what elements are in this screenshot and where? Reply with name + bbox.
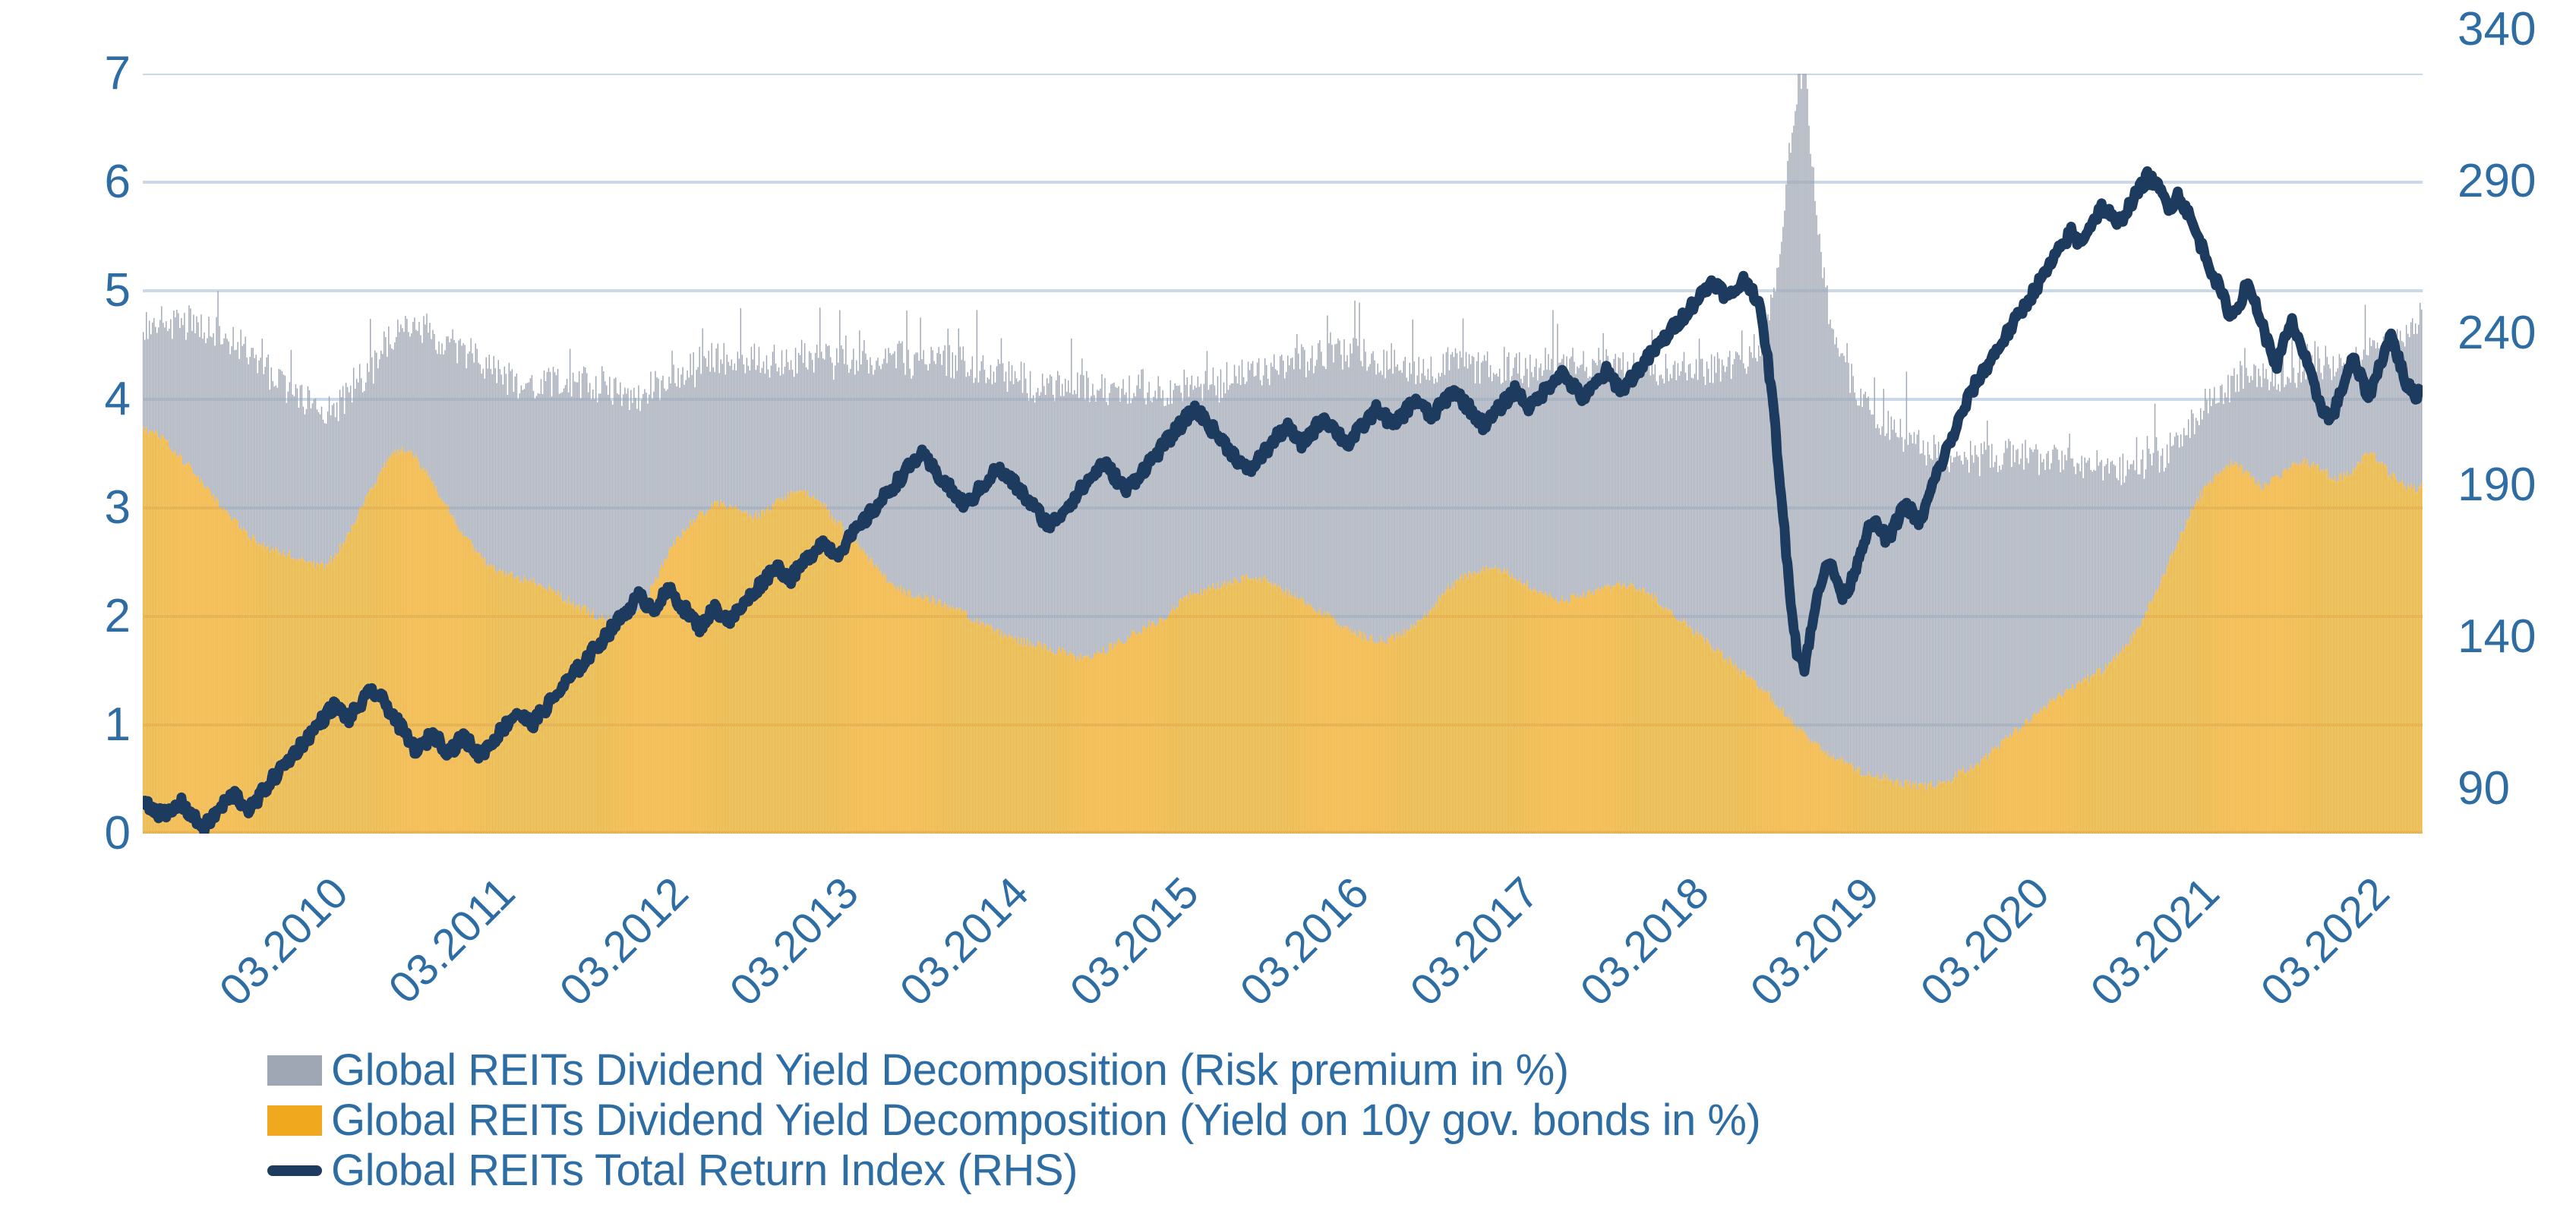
y-left-tick-1: 1 [39, 702, 131, 749]
y-right-tick-190: 190 [2458, 462, 2576, 509]
legend-label-risk-premium: Global REITs Dividend Yield Decompositio… [331, 1048, 1569, 1092]
x-tick-label-03-2013: 03.2013 [722, 870, 866, 1014]
y-left-tick-5: 5 [39, 267, 131, 314]
x-tick-label-03-2018: 03.2018 [1574, 870, 1717, 1014]
x-tick-label-03-2019: 03.2019 [1744, 870, 1887, 1014]
y-right-tick-140: 140 [2458, 613, 2576, 661]
y-left-tick-3: 3 [39, 484, 131, 531]
x-tick-label-03-2020: 03.2020 [1914, 870, 2057, 1014]
legend-swatch-bond-yield [267, 1105, 322, 1136]
x-tick-label-03-2021: 03.2021 [2084, 870, 2227, 1014]
legend-swatch-risk-premium [267, 1055, 322, 1086]
x-tick-label-03-2011: 03.2011 [381, 870, 522, 1011]
y-left-tick-7: 7 [39, 50, 131, 97]
y-left-tick-6: 6 [39, 159, 131, 206]
legend-item-total-return[interactable]: Global REITs Total Return Index (RHS) [267, 1146, 2090, 1195]
x-tick-label-03-2016: 03.2016 [1233, 870, 1377, 1014]
x-tick-label-03-2022: 03.2022 [2254, 870, 2398, 1014]
chart-figure: 7 6 5 4 3 2 1 0 340 290 240 190 140 90 0… [0, 0, 2576, 1217]
legend-label-bond-yield: Global REITs Dividend Yield Decompositio… [331, 1099, 1760, 1143]
x-tick-label-03-2017: 03.2017 [1403, 870, 1547, 1014]
legend-label-total-return: Global REITs Total Return Index (RHS) [331, 1149, 1078, 1193]
y-right-tick-340: 340 [2458, 6, 2576, 53]
x-tick-label-03-2014: 03.2014 [893, 870, 1037, 1014]
legend-item-bond-yield[interactable]: Global REITs Dividend Yield Decompositio… [267, 1096, 2090, 1145]
x-tick-label-03-2010: 03.2010 [212, 870, 355, 1014]
chart-legend: Global REITs Dividend Yield Decompositio… [267, 1046, 2090, 1197]
y-left-tick-2: 2 [39, 593, 131, 640]
y-right-tick-290: 290 [2458, 158, 2576, 205]
plot-area [143, 74, 2423, 834]
legend-item-risk-premium[interactable]: Global REITs Dividend Yield Decompositio… [267, 1046, 2090, 1095]
y-left-tick-0: 0 [39, 810, 131, 857]
legend-swatch-total-return [267, 1165, 322, 1176]
x-tick-label-03-2015: 03.2015 [1063, 870, 1207, 1014]
y-left-tick-4: 4 [39, 376, 131, 423]
chart-canvas [143, 74, 2423, 834]
x-tick-label-03-2012: 03.2012 [552, 870, 696, 1014]
y-right-tick-90: 90 [2458, 765, 2576, 812]
y-right-tick-240: 240 [2458, 310, 2576, 357]
